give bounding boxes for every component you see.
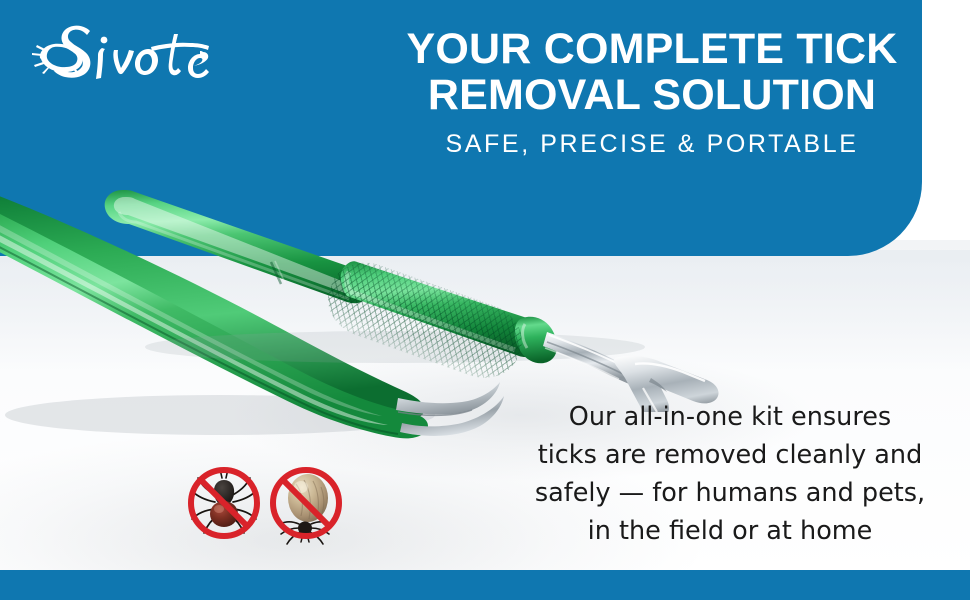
no-tick-badge-dark-tick [186, 456, 262, 550]
page-title: YOUR COMPLETE TICK REMOVAL SOLUTION [352, 26, 952, 118]
page-subtitle: SAFE, PRECISE & PORTABLE [352, 129, 952, 159]
brand-logo [24, 18, 234, 96]
product-banner: YOUR COMPLETE TICK REMOVAL SOLUTION SAFE… [0, 0, 970, 600]
body-copy: Our all-in-one kit ensures ticks are rem… [505, 398, 955, 550]
no-tick-badges [186, 456, 346, 552]
pen-highlight [114, 197, 357, 294]
tick-removal-pen [95, 172, 745, 412]
headline-block: YOUR COMPLETE TICK REMOVAL SOLUTION SAFE… [352, 26, 952, 159]
footer-bar [0, 570, 970, 600]
no-tick-badge-engorged-tick [268, 456, 344, 550]
